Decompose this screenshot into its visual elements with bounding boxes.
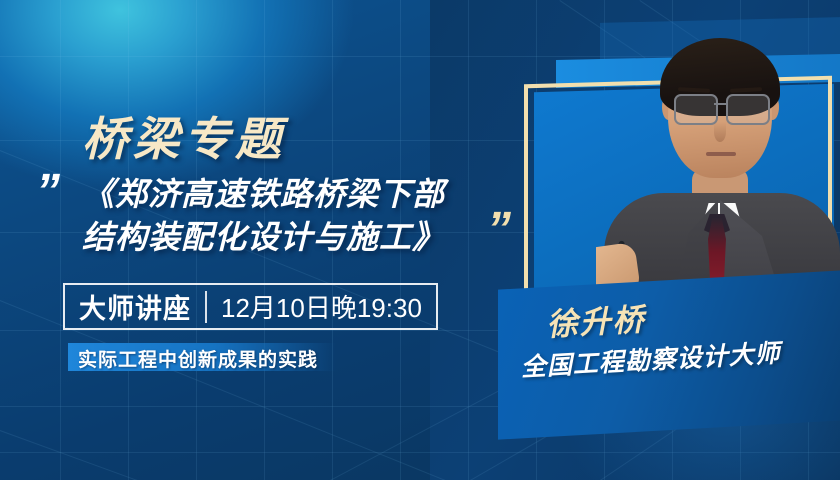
glasses-icon	[674, 94, 718, 125]
quote-open-icon: ”	[36, 168, 60, 216]
poster-canvas: 徐升桥 全国工程勘察设计大师 桥梁专题 ” ” 《郑济高速铁路桥梁下部 结构装配…	[0, 0, 840, 480]
lecture-datetime: 12月10日晚19:30	[207, 288, 436, 325]
kicker-title: 桥梁专题	[82, 103, 286, 169]
lecture-label: 大师讲座	[65, 287, 205, 326]
main-title: 《郑济高速铁路桥梁下部 结构装配化设计与施工》	[82, 173, 502, 259]
speaker-name-block: 徐升桥 全国工程勘察设计大师	[517, 283, 840, 411]
subtitle-text: 实际工程中创新成果的实践	[78, 345, 318, 372]
main-title-line-1: 《郑济高速铁路桥梁下部	[82, 173, 502, 216]
main-title-line-2: 结构装配化设计与施工》	[82, 216, 502, 259]
lecture-info-bar: 大师讲座 12月10日晚19:30	[63, 283, 438, 330]
